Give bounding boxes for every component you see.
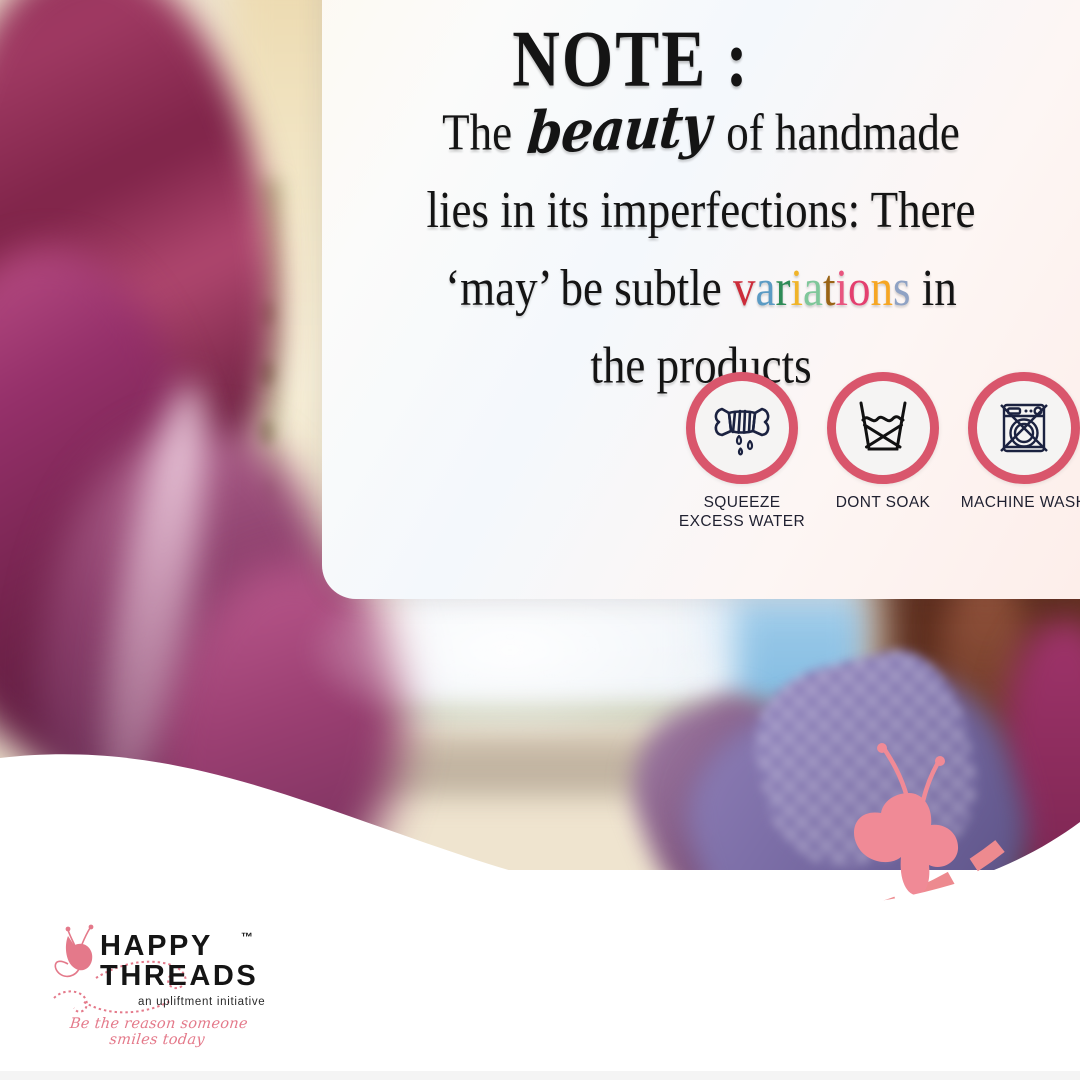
variations-letter-4: a (803, 259, 823, 317)
no-soak-tub-icon (827, 372, 939, 484)
note-line-3: ‘may’ be subtle variations in (356, 249, 1046, 327)
happy-threads-logo: HAPPY THREADS ™ an upliftment initiative… (38, 912, 268, 1042)
care-label-dont-soak: DONT SOAK (819, 493, 947, 512)
bottom-edge-strip (0, 1071, 1080, 1080)
variations-rainbow-word: variations (733, 259, 911, 317)
variations-letter-1: a (756, 259, 776, 317)
care-instruction-row: SQUEEZE EXCESS WATER DONT SOAK MACHINE W… (678, 364, 1080, 544)
variations-letter-7: o (848, 259, 871, 317)
note-line-1: The beauty of handmade (356, 90, 1046, 171)
care-item-machine-wash: MACHINE WASH (960, 372, 1080, 512)
care-label-squeeze-excess-water: SQUEEZE EXCESS WATER (678, 493, 806, 531)
note-line3-a: ‘may’ be subtle (445, 259, 722, 317)
variations-letter-3: i (791, 259, 804, 317)
no-machine-wash-icon (968, 372, 1080, 484)
variations-letter-8: n (871, 259, 894, 317)
logo-name-line2: THREADS (100, 960, 258, 993)
care-item-squeeze-excess-water: SQUEEZE EXCESS WATER (678, 372, 806, 531)
variations-letter-0: v (733, 259, 756, 317)
promo-graphic: NOTE : The beauty of handmade lies in it… (0, 0, 1080, 1080)
logo-trademark-icon: ™ (241, 930, 253, 944)
note-card: NOTE : The beauty of handmade lies in it… (322, 0, 1080, 599)
note-line1-a: The (442, 103, 512, 161)
care-label-machine-wash: MACHINE WASH (960, 493, 1080, 512)
variations-letter-5: t (823, 259, 836, 317)
variations-letter-9: s (893, 259, 911, 317)
note-line-2: lies in its imperfections: There (356, 172, 1046, 250)
note-line1-b: of handmade (726, 103, 960, 161)
logo-name-line1: HAPPY (100, 930, 213, 963)
note-line1-script: beauty (519, 86, 719, 171)
logo-subtitle: an upliftment initiative (138, 996, 265, 1008)
care-item-dont-soak: DONT SOAK (819, 372, 947, 512)
note-body: The beauty of handmade lies in its imper… (356, 90, 1046, 404)
variations-letter-2: r (776, 259, 791, 317)
variations-letter-6: i (836, 259, 849, 317)
logo-tagline: Be the reason someone smiles today (46, 1016, 269, 1048)
squeeze-cloth-icon (686, 372, 798, 484)
note-line3-b: in (922, 259, 957, 317)
